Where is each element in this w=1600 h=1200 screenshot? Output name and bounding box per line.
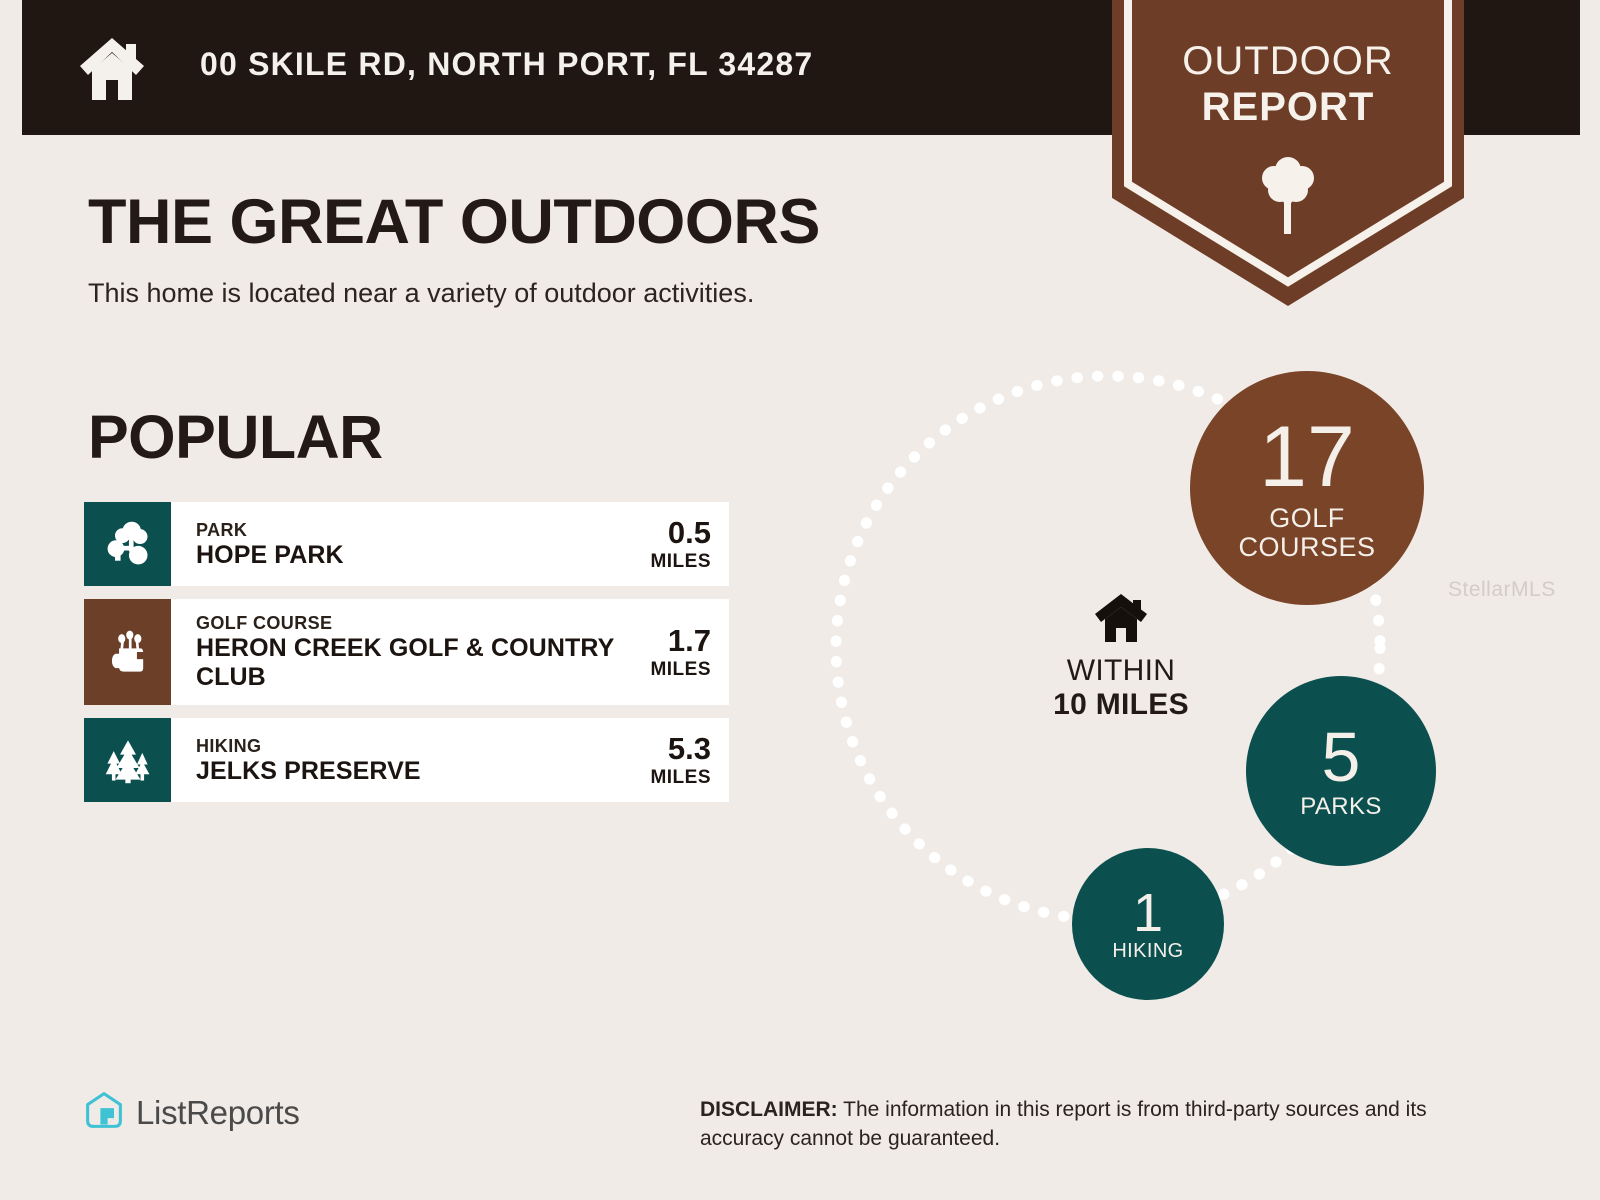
- poi-distance-value: 5.3: [668, 732, 711, 766]
- stat-circle-hiking: 1 HIKING: [1072, 848, 1224, 1000]
- watermark: StellarMLS: [1448, 578, 1556, 602]
- disclaimer-label: DISCLAIMER:: [700, 1098, 838, 1121]
- list-item[interactable]: PARK HOPE PARK 0.5 MILES: [84, 502, 729, 586]
- listreports-logo[interactable]: ListReports: [84, 1090, 300, 1135]
- home-icon: [1093, 592, 1149, 644]
- poi-distance: 0.5 MILES: [619, 502, 729, 586]
- park-trees-icon: [102, 518, 154, 570]
- poi-distance: 1.7 MILES: [619, 599, 729, 705]
- list-item[interactable]: GOLF COURSE HERON CREEK GOLF & COUNTRY C…: [84, 599, 729, 705]
- property-address: 00 SKILE RD, NORTH PORT, FL 34287: [200, 46, 813, 83]
- stat-label: HIKING: [1112, 941, 1183, 963]
- badge-title: OUTDOOR REPORT: [1112, 38, 1464, 130]
- page-subtitle: This home is located near a variety of o…: [88, 278, 754, 309]
- badge-line-1: OUTDOOR: [1112, 38, 1464, 84]
- pine-trees-icon: [101, 735, 155, 785]
- poi-distance-value: 0.5: [668, 516, 711, 550]
- golf-bag-icon: [103, 627, 153, 677]
- poi-distance-value: 1.7: [668, 624, 711, 658]
- poi-category: GOLF COURSE: [196, 612, 619, 634]
- listreports-wordmark: ListReports: [136, 1094, 300, 1132]
- stat-circle-golf-courses: 17 GOLF COURSES: [1190, 371, 1424, 605]
- poi-icon-tile: [84, 599, 171, 705]
- center-radius-marker: WITHIN 10 MILES: [1028, 592, 1214, 722]
- poi-distance-unit: MILES: [650, 658, 711, 681]
- poi-name: HOPE PARK: [196, 541, 619, 570]
- tree-icon: [1258, 152, 1318, 238]
- stat-value: 1: [1133, 886, 1163, 940]
- stat-label-line-1: GOLF: [1238, 504, 1375, 533]
- popular-list: PARK HOPE PARK 0.5 MILES: [84, 502, 729, 815]
- poi-distance: 5.3 MILES: [619, 718, 729, 802]
- popular-heading: POPULAR: [88, 402, 383, 472]
- stat-label: GOLF COURSES: [1238, 504, 1375, 562]
- poi-distance-unit: MILES: [650, 550, 711, 573]
- page-title: THE GREAT OUTDOORS: [88, 186, 820, 258]
- stat-value: 5: [1322, 722, 1361, 792]
- poi-body: GOLF COURSE HERON CREEK GOLF & COUNTRY C…: [171, 599, 619, 705]
- stat-label: PARKS: [1300, 794, 1382, 820]
- poi-icon-tile: [84, 502, 171, 586]
- list-item[interactable]: HIKING JELKS PRESERVE 5.3 MILES: [84, 718, 729, 802]
- stat-circle-parks: 5 PARKS: [1246, 676, 1436, 866]
- poi-distance-unit: MILES: [650, 766, 711, 789]
- stat-label-line-2: COURSES: [1238, 533, 1375, 562]
- badge-line-2: REPORT: [1112, 84, 1464, 130]
- stat-value: 17: [1259, 414, 1355, 500]
- poi-icon-tile: [84, 718, 171, 802]
- listreports-house-icon: [84, 1090, 124, 1135]
- poi-name: JELKS PRESERVE: [196, 757, 619, 786]
- outdoor-report-page: 00 SKILE RD, NORTH PORT, FL 34287 OUTDOO…: [0, 0, 1600, 1200]
- within-label: WITHIN: [1028, 654, 1214, 688]
- poi-category: PARK: [196, 519, 619, 541]
- disclaimer: DISCLAIMER: The information in this repo…: [700, 1095, 1490, 1153]
- poi-name: HERON CREEK GOLF & COUNTRY CLUB: [196, 634, 619, 692]
- poi-body: HIKING JELKS PRESERVE: [171, 718, 619, 802]
- poi-category: HIKING: [196, 735, 619, 757]
- within-distance: 10 MILES: [1028, 688, 1214, 722]
- home-icon: [74, 30, 150, 106]
- poi-body: PARK HOPE PARK: [171, 502, 619, 586]
